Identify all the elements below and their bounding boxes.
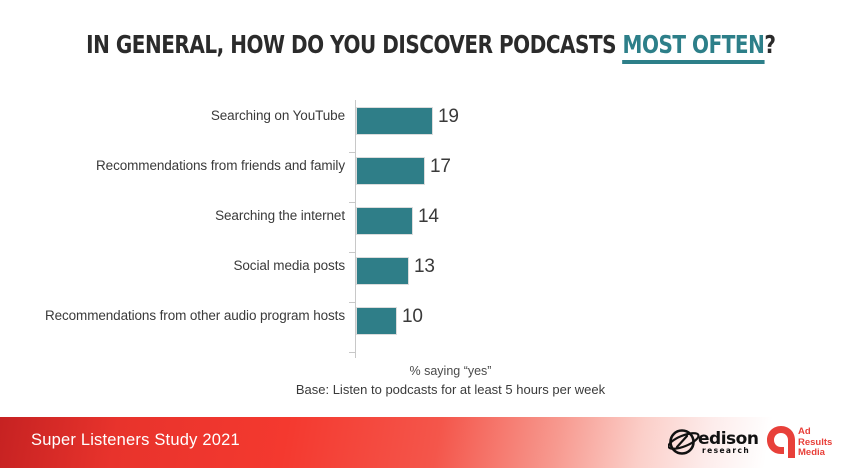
- bar-recommendations-friends-family: [356, 157, 425, 185]
- category-label-searching-the-internet: Searching the internet: [215, 208, 345, 223]
- edison-subtitle: research: [702, 446, 750, 455]
- bar-row: Searching on YouTube 19: [0, 96, 841, 146]
- base-note: Base: Listen to podcasts for at least 5 …: [60, 382, 841, 397]
- axis-tick: [349, 352, 355, 353]
- bar-row: Recommendations from friends and family …: [0, 146, 841, 196]
- arm-line-1: Ad: [798, 427, 832, 438]
- bar-searching-the-internet: [356, 207, 413, 235]
- chart-title-suffix: ?: [764, 30, 775, 59]
- bar-value-social-media-posts: 13: [414, 256, 435, 278]
- unit-note: % saying “yes”: [60, 364, 841, 378]
- chart-title: IN GENERAL, HOW DO YOU DISCOVER PODCASTS…: [86, 30, 775, 59]
- category-label-social-media-posts: Social media posts: [233, 258, 345, 273]
- bar-rows: Searching on YouTube 19 Recommendations …: [0, 96, 841, 346]
- bar-recommendations-audio-hosts: [356, 307, 397, 335]
- chart-footnotes: % saying “yes” Base: Listen to podcasts …: [0, 364, 841, 397]
- edison-research-logo: edison research: [668, 427, 760, 459]
- category-label-recommendations-audio-hosts: Recommendations from other audio program…: [45, 308, 345, 323]
- bar-value-recommendations-audio-hosts: 10: [402, 306, 423, 328]
- bar-value-recommendations-friends-family: 17: [430, 156, 451, 178]
- bar-row: Searching the internet 14: [0, 196, 841, 246]
- bar-row: Recommendations from other audio program…: [0, 296, 841, 346]
- chart-title-highlight: MOST OFTEN: [623, 30, 765, 64]
- bar-searching-on-youtube: [356, 107, 433, 135]
- bar-row: Social media posts 13: [0, 246, 841, 296]
- category-label-searching-on-youtube: Searching on YouTube: [211, 108, 345, 123]
- ad-results-media-wordmark: Ad Results Media: [798, 427, 832, 459]
- ad-results-media-logo: Ad Results Media: [766, 425, 838, 461]
- page-title: IN GENERAL, HOW DO YOU DISCOVER PODCASTS…: [0, 30, 841, 59]
- bar-chart-plot-area: Searching on YouTube 19 Recommendations …: [0, 96, 841, 362]
- study-title: Super Listeners Study 2021: [31, 431, 240, 450]
- bar-value-searching-the-internet: 14: [418, 206, 439, 228]
- ad-results-media-mark-icon: [766, 425, 796, 459]
- chart-title-plain: IN GENERAL, HOW DO YOU DISCOVER PODCASTS: [86, 30, 622, 59]
- arm-line-3: Media: [798, 448, 832, 459]
- category-label-recommendations-friends-family: Recommendations from friends and family: [96, 158, 345, 173]
- edison-planet-icon: [668, 427, 702, 457]
- bar-social-media-posts: [356, 257, 409, 285]
- bar-value-searching-on-youtube: 19: [438, 106, 459, 128]
